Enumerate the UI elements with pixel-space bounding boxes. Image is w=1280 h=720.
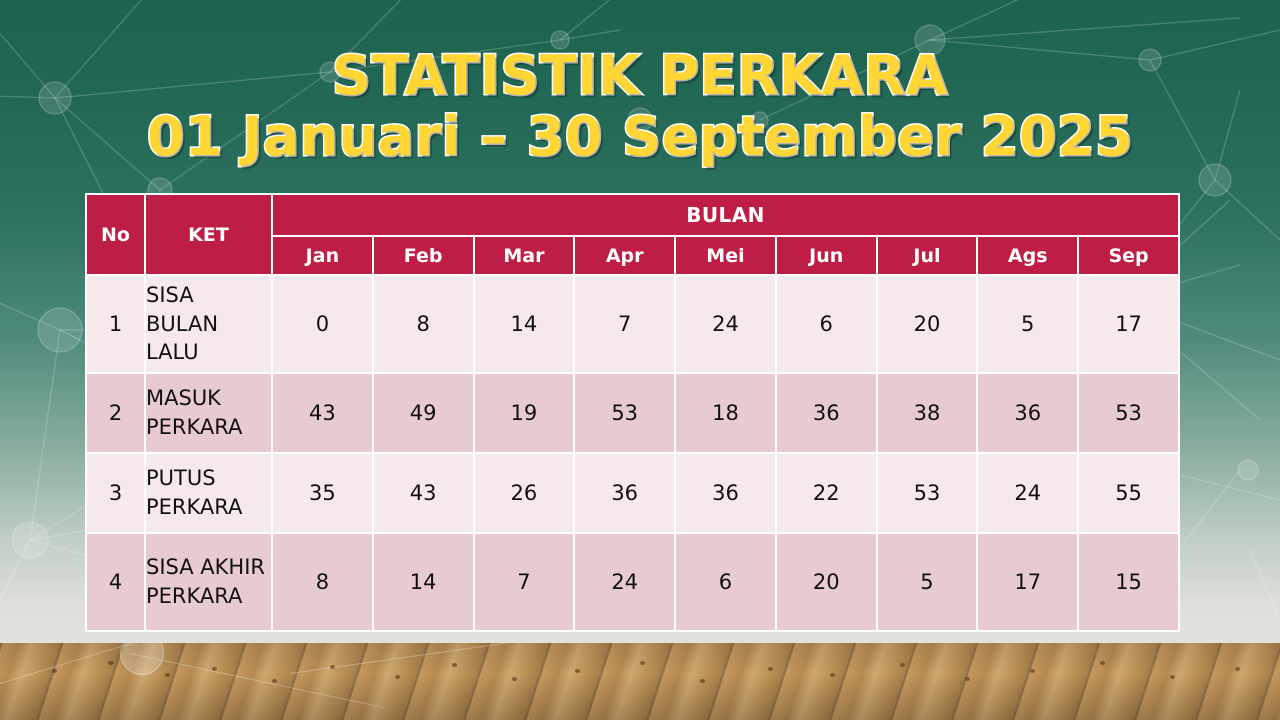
cell-feb: 43 xyxy=(373,453,474,533)
floor-shading-overlay xyxy=(0,643,1280,720)
row-label: MASUK PERKARA xyxy=(145,373,272,453)
cell-ags: 17 xyxy=(977,533,1078,631)
row-number: 3 xyxy=(86,453,145,533)
cell-jul: 38 xyxy=(877,373,978,453)
cell-sep: 53 xyxy=(1078,373,1179,453)
row-label: PUTUS PERKARA xyxy=(145,453,272,533)
row-number: 1 xyxy=(86,275,145,373)
cell-ags: 36 xyxy=(977,373,1078,453)
cell-apr: 24 xyxy=(574,533,675,631)
table-head: No KET BULAN Jan Feb Mar Apr Mei Jun Jul… xyxy=(86,194,1179,275)
cell-ags: 5 xyxy=(977,275,1078,373)
cell-jan: 0 xyxy=(272,275,373,373)
cell-apr: 7 xyxy=(574,275,675,373)
cell-mei: 24 xyxy=(675,275,776,373)
cell-ags: 24 xyxy=(977,453,1078,533)
column-header-no: No xyxy=(86,194,145,275)
cell-mar: 19 xyxy=(474,373,575,453)
cell-jan: 43 xyxy=(272,373,373,453)
table-row: 2 MASUK PERKARA 43 49 19 53 18 36 38 36 … xyxy=(86,373,1179,453)
cell-mar: 14 xyxy=(474,275,575,373)
column-header-month-mar: Mar xyxy=(474,236,575,275)
column-header-month-jan: Jan xyxy=(272,236,373,275)
cell-mar: 26 xyxy=(474,453,575,533)
table-row: 1 SISA BULAN LALU 0 8 14 7 24 6 20 5 17 xyxy=(86,275,1179,373)
column-header-month-feb: Feb xyxy=(373,236,474,275)
cell-jun: 20 xyxy=(776,533,877,631)
statistics-table-container: No KET BULAN Jan Feb Mar Apr Mei Jun Jul… xyxy=(85,193,1180,632)
cell-feb: 49 xyxy=(373,373,474,453)
cell-jun: 6 xyxy=(776,275,877,373)
row-label: SISA BULAN LALU xyxy=(145,275,272,373)
row-number: 4 xyxy=(86,533,145,631)
cell-feb: 8 xyxy=(373,275,474,373)
cell-sep: 17 xyxy=(1078,275,1179,373)
row-number: 2 xyxy=(86,373,145,453)
column-header-ket: KET xyxy=(145,194,272,275)
slide: STATISTIK PERKARA 01 Januari – 30 Septem… xyxy=(0,0,1280,720)
wooden-floor-decoration xyxy=(0,643,1280,720)
table-row: 4 SISA AKHIR PERKARA 8 14 7 24 6 20 5 17… xyxy=(86,533,1179,631)
table-row: 3 PUTUS PERKARA 35 43 26 36 36 22 53 24 … xyxy=(86,453,1179,533)
cell-jun: 22 xyxy=(776,453,877,533)
column-header-group-bulan: BULAN xyxy=(272,194,1179,236)
row-label: SISA AKHIR PERKARA xyxy=(145,533,272,631)
table-header-row-1: No KET BULAN xyxy=(86,194,1179,236)
cell-jan: 35 xyxy=(272,453,373,533)
statistics-table: No KET BULAN Jan Feb Mar Apr Mei Jun Jul… xyxy=(85,193,1180,632)
cell-jun: 36 xyxy=(776,373,877,453)
cell-mar: 7 xyxy=(474,533,575,631)
cell-feb: 14 xyxy=(373,533,474,631)
cell-apr: 53 xyxy=(574,373,675,453)
cell-mei: 18 xyxy=(675,373,776,453)
column-header-month-apr: Apr xyxy=(574,236,675,275)
column-header-month-jun: Jun xyxy=(776,236,877,275)
column-header-month-ags: Ags xyxy=(977,236,1078,275)
column-header-month-mei: Mei xyxy=(675,236,776,275)
cell-jul: 53 xyxy=(877,453,978,533)
cell-jan: 8 xyxy=(272,533,373,631)
cell-jul: 5 xyxy=(877,533,978,631)
cell-jul: 20 xyxy=(877,275,978,373)
cell-mei: 36 xyxy=(675,453,776,533)
cell-sep: 15 xyxy=(1078,533,1179,631)
column-header-month-jul: Jul xyxy=(877,236,978,275)
table-body: 1 SISA BULAN LALU 0 8 14 7 24 6 20 5 17 … xyxy=(86,275,1179,631)
column-header-month-sep: Sep xyxy=(1078,236,1179,275)
cell-mei: 6 xyxy=(675,533,776,631)
cell-apr: 36 xyxy=(574,453,675,533)
cell-sep: 55 xyxy=(1078,453,1179,533)
